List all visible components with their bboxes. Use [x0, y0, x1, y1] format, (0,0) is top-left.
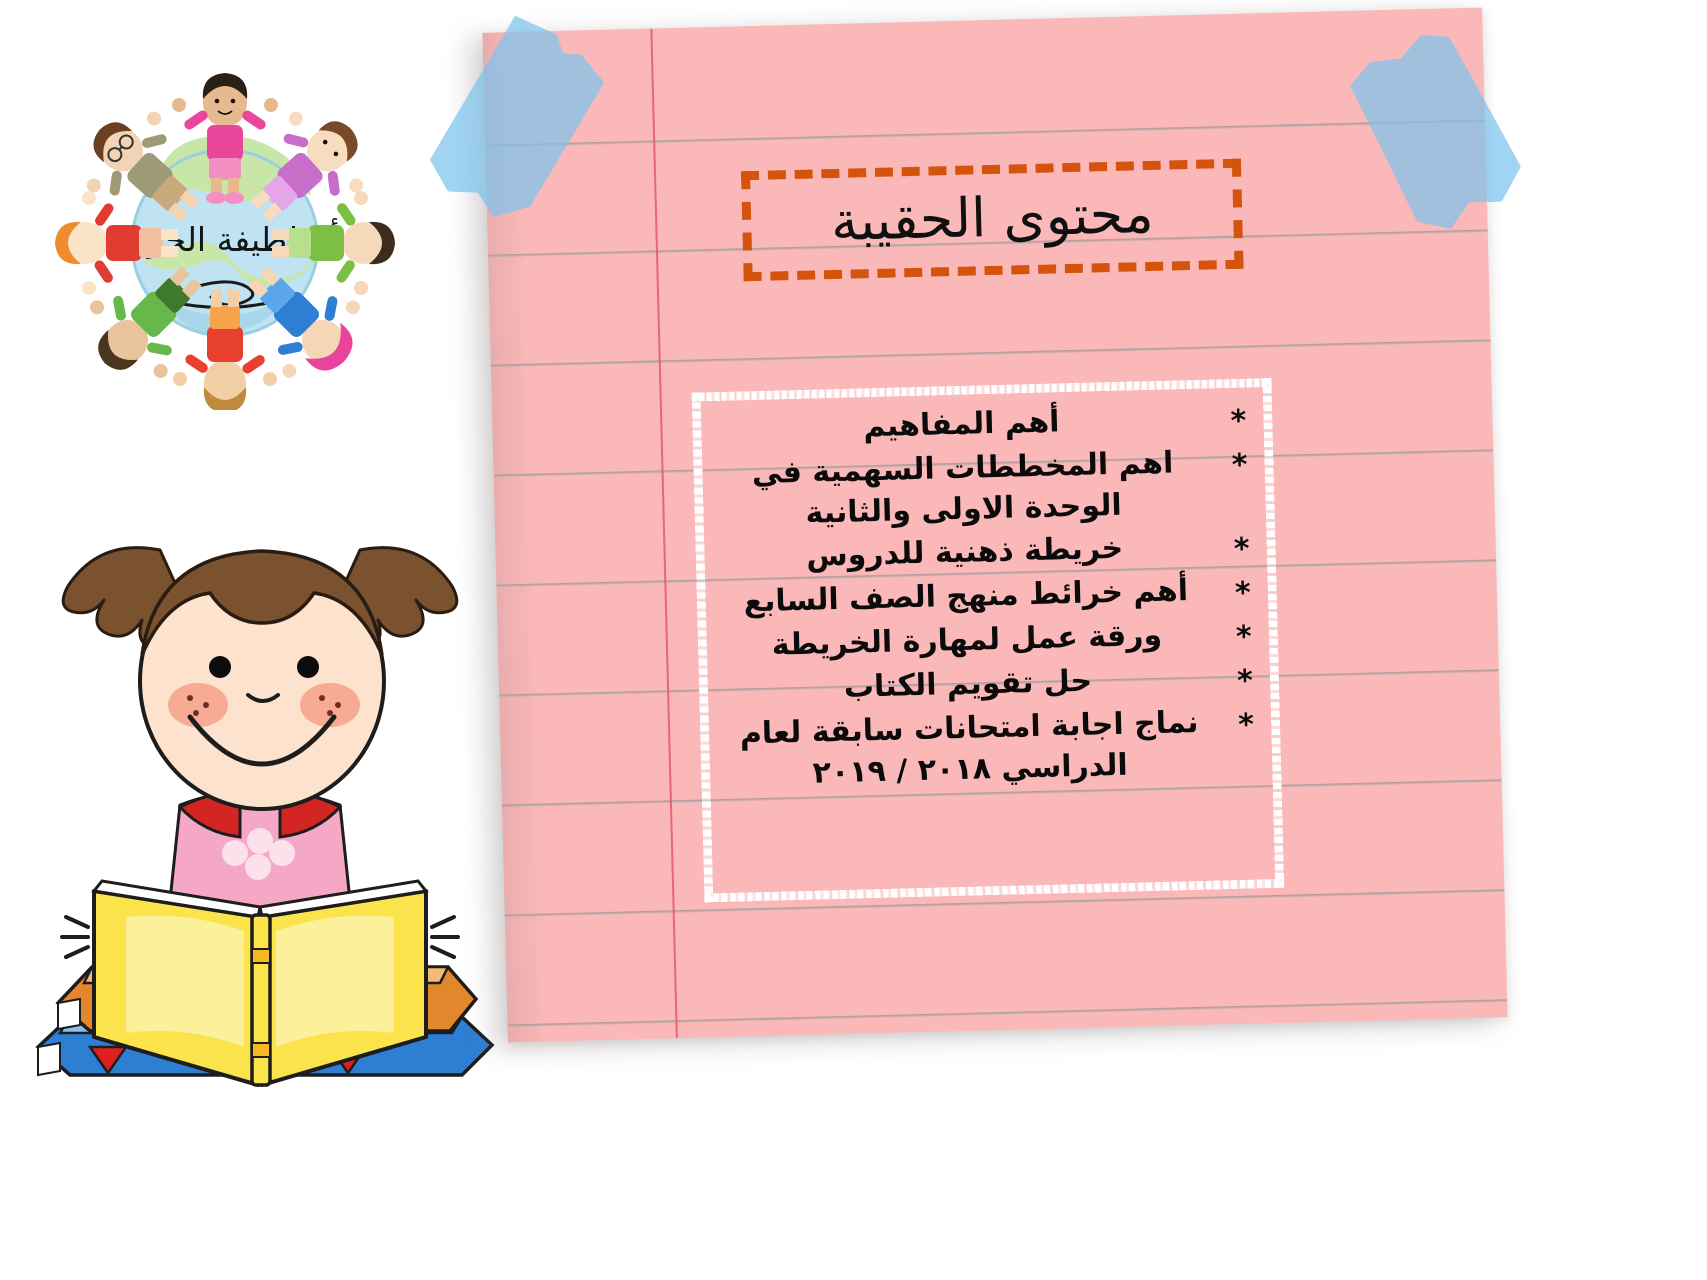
- rule-line: [491, 339, 1491, 367]
- list-border-left: [692, 392, 714, 902]
- margin-line: [650, 29, 678, 1039]
- content-items-list: * أهم المفاهيم * اهم المخططات السهمية في…: [710, 397, 1260, 797]
- content-list-box: * أهم المفاهيم * اهم المخططات السهمية في…: [692, 378, 1285, 903]
- page-title: محتوى الحقيبة: [830, 187, 1154, 249]
- rule-line: [507, 999, 1507, 1027]
- asterisk-bullet-icon: *: [1226, 401, 1251, 444]
- asterisk-bullet-icon: *: [1233, 660, 1258, 703]
- asterisk-bullet-icon: *: [1227, 444, 1252, 487]
- list-item-label: اهم المخططات السهمية في الوحدة الاولى وا…: [711, 441, 1215, 536]
- ruled-paper: محتوى الحقيبة * أهم المفاهيم * اهم المخط…: [482, 8, 1507, 1043]
- content-title-box: محتوى الحقيبة: [741, 159, 1244, 282]
- rule-line: [485, 119, 1485, 147]
- children-around-globe-icon: أ / لطيفة الحربي: [55, 65, 395, 410]
- teacher-logo: أ / لطيفة الحربي: [55, 65, 395, 410]
- note-paper-card: محتوى الحقيبة * أهم المفاهيم * اهم المخط…: [495, 20, 1505, 1050]
- list-item[interactable]: * اهم المخططات السهمية في الوحدة الاولى …: [711, 440, 1253, 536]
- girl-reading-illustration: [30, 455, 500, 1095]
- list-item-label: نماج اجابة امتحانات سابقة لعام الدراسي ٢…: [718, 701, 1222, 796]
- asterisk-bullet-icon: *: [1229, 528, 1254, 571]
- asterisk-bullet-icon: *: [1231, 616, 1256, 659]
- asterisk-bullet-icon: *: [1230, 572, 1255, 615]
- list-item[interactable]: * نماج اجابة امتحانات سابقة لعام الدراسي…: [718, 700, 1260, 796]
- girl-reading-book-icon: [30, 455, 500, 1095]
- asterisk-bullet-icon: *: [1234, 704, 1259, 747]
